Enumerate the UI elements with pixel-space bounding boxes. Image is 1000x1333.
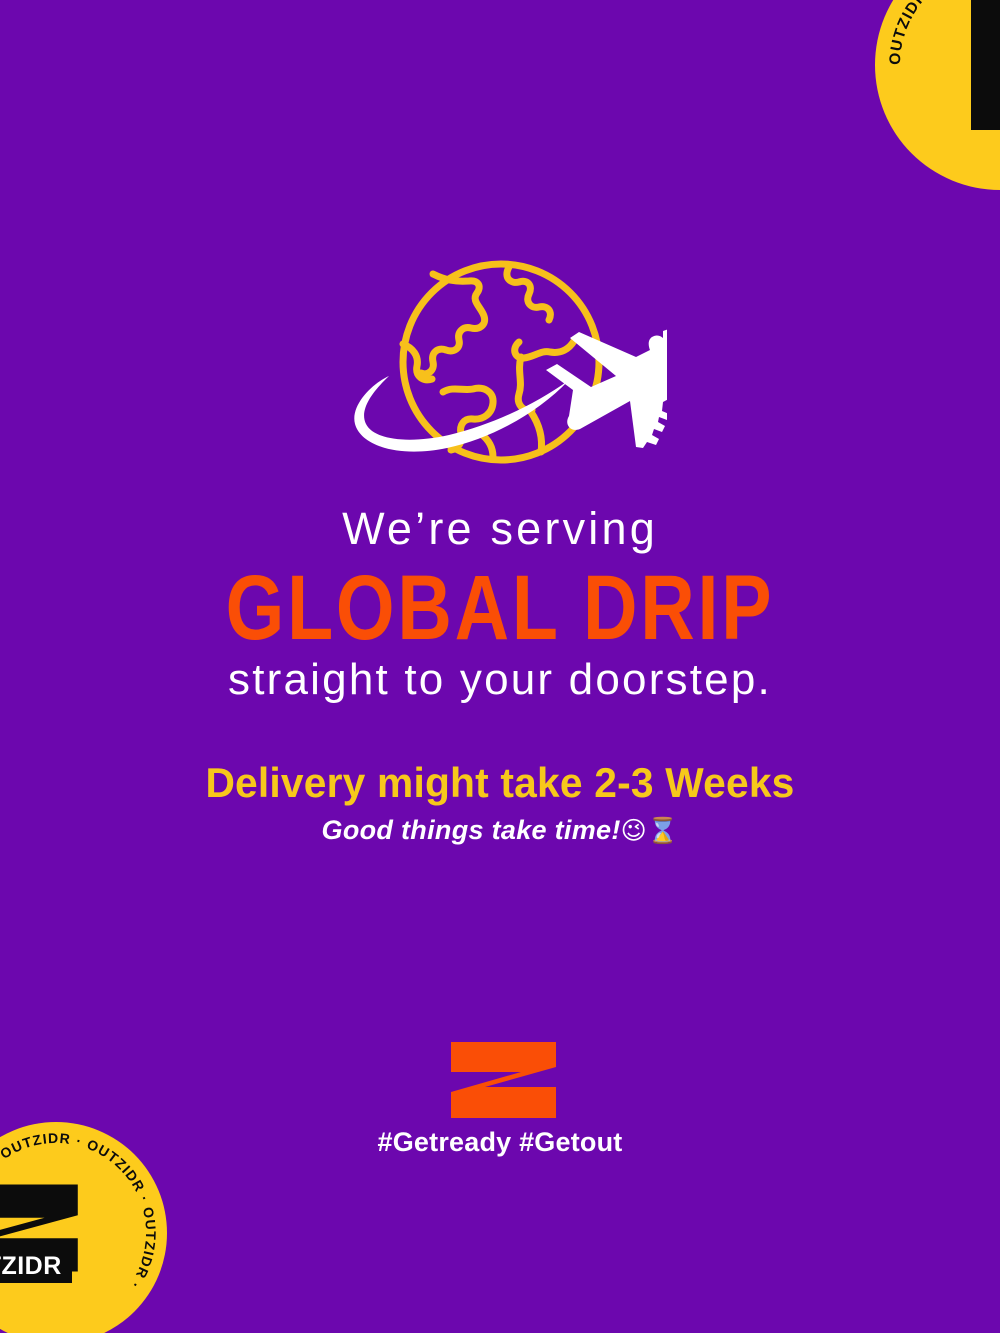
hero-headline: GLOBAL DRIP: [40, 563, 960, 655]
globe-airplane-icon: [333, 252, 667, 476]
delivery-notice: Delivery might take 2-3 Weeks: [15, 762, 985, 804]
subline-text: straight to your doorstep.: [0, 658, 1000, 702]
outzidr-z-logo: [449, 1041, 558, 1119]
delivery-reassurance: Good things take time!😉⌛: [0, 814, 1000, 848]
reassurance-text: Good things take time!: [322, 815, 621, 845]
badge-z-mark-top-right: [947, 0, 1000, 136]
eyebrow-text: We’re serving: [0, 506, 1000, 551]
hashtags-text: #Getready #Getout: [0, 1129, 1000, 1156]
hourglass-emoji-icon: ⌛: [647, 816, 678, 845]
badge-top-right: OUTZIDR · OUTZIDR · OUTZIDR · OUTZIDR ·: [875, 0, 1000, 190]
poster-canvas: OUTZIDR · OUTZIDR · OUTZIDR · OUTZIDR · …: [0, 0, 1000, 1333]
badge-wordmark-bottom-left: OUTZIDR: [0, 1250, 72, 1283]
wink-emoji-icon: 😉: [621, 816, 647, 845]
